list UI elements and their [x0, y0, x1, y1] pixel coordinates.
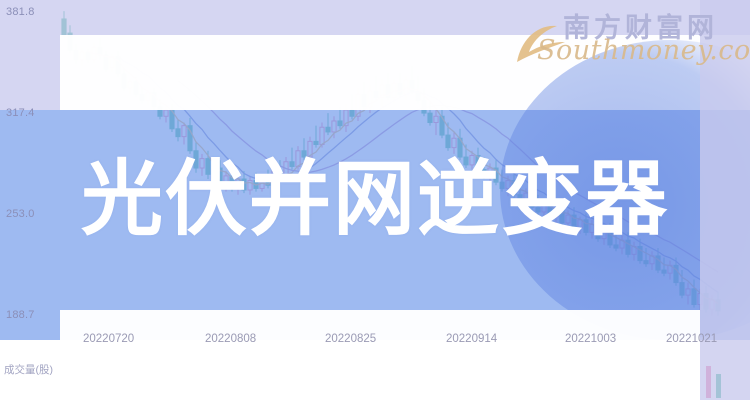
volume-bar: [716, 374, 721, 398]
candlestick: [122, 68, 126, 92]
candlestick: [314, 126, 318, 148]
candlestick: [710, 295, 714, 315]
candlestick: [128, 79, 132, 95]
candlestick: [104, 50, 108, 72]
x-axis-tick-label: 20220825: [325, 333, 376, 345]
x-axis-tick-label: 20220808: [205, 333, 256, 345]
candlestick: [116, 50, 120, 77]
candlestick: [644, 248, 648, 267]
candlestick: [68, 25, 72, 53]
candlestick: [650, 251, 654, 270]
x-axis-tick-label: 20221003: [565, 333, 616, 345]
candlestick: [80, 47, 84, 66]
candlestick: [686, 283, 690, 305]
volume-bar: [706, 366, 711, 398]
candlestick: [428, 101, 432, 126]
candlestick: [374, 75, 378, 100]
candlestick: [368, 85, 372, 113]
y-axis-tick-label: 317.4: [6, 107, 35, 119]
volume-axis-label: 成交量(股): [4, 362, 53, 377]
candlestick: [434, 110, 438, 135]
candlestick: [176, 119, 180, 141]
x-axis-tick-label: 20221021: [666, 333, 717, 345]
candlestick: [386, 72, 390, 100]
candlestick: [74, 44, 78, 64]
candlestick: [338, 107, 342, 129]
candlestick: [62, 11, 66, 38]
candlestick: [164, 107, 168, 123]
candlestick: [326, 113, 330, 135]
candlestick: [362, 82, 366, 110]
candlestick: [86, 49, 90, 63]
candlestick: [152, 88, 156, 110]
candlestick: [668, 261, 672, 280]
x-axis-tick-label: 20220720: [83, 333, 134, 345]
candlestick: [422, 88, 426, 116]
candlestick: [170, 104, 174, 132]
candlestick: [716, 292, 720, 316]
page-title: 光伏并网逆变器: [0, 150, 750, 250]
y-axis-tick-label: 188.7: [6, 309, 35, 321]
candlestick: [692, 279, 696, 307]
y-axis-tick-label: 381.8: [6, 6, 35, 18]
x-axis-tick-label: 20220914: [446, 333, 497, 345]
candlestick: [110, 53, 114, 72]
stock-chart-banner: 381.8317.4253.0188.7 2022072020220808202…: [0, 0, 750, 400]
candlestick: [440, 107, 444, 138]
candlestick: [98, 38, 102, 60]
candlestick: [344, 104, 348, 132]
candlestick: [398, 72, 402, 97]
candlestick: [380, 79, 384, 107]
candlestick: [350, 94, 354, 119]
candlestick: [188, 118, 192, 154]
candlestick: [662, 257, 666, 276]
